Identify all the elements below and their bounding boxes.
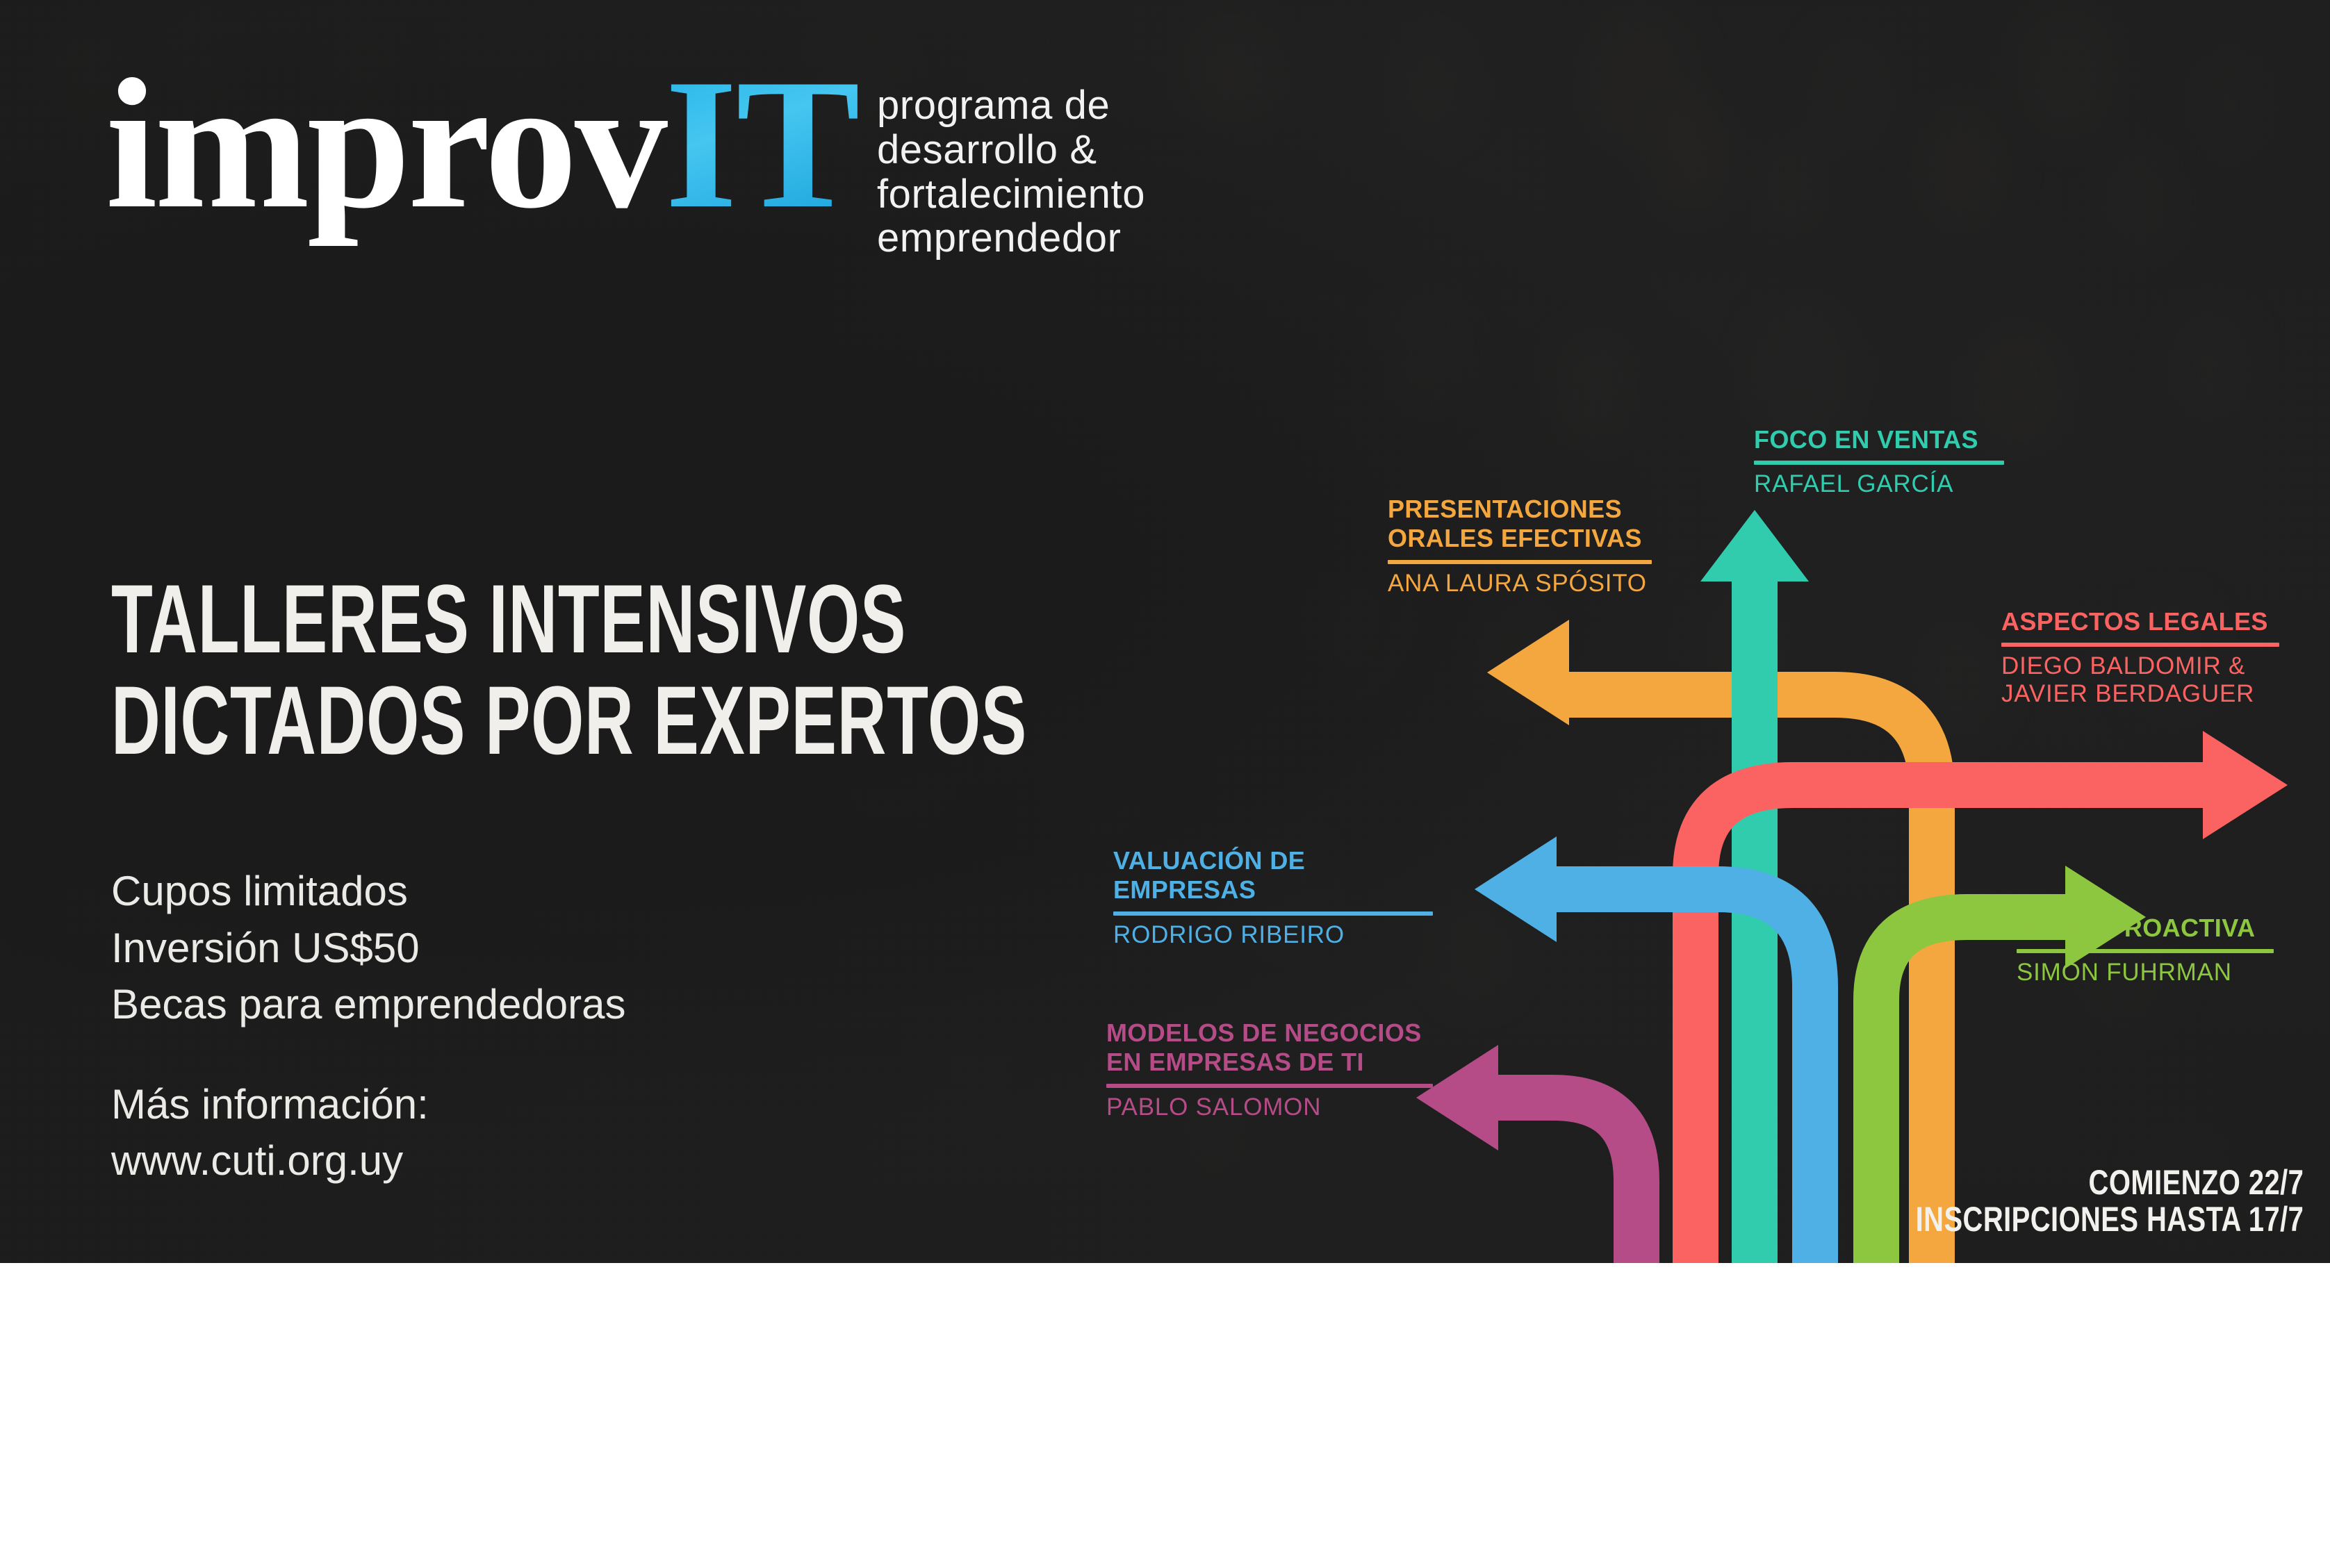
- workshop-arrow-diagram: [1459, 486, 2330, 1263]
- footer-section: ORGANIZA cuti: [0, 1263, 2330, 1568]
- workshop-speaker-aspectos-1: DIEGO BALDOMIR &: [2001, 652, 2279, 680]
- workshop-label-foco-en-ventas: FOCO EN VENTAS RAFAEL GARCÍA: [1754, 425, 2004, 498]
- workshop-rule-foco: [1754, 461, 2004, 465]
- body-line-mas-info: Más información:: [111, 1076, 625, 1133]
- tagline-line-3: fortalecimiento: [877, 172, 1145, 217]
- workshop-speaker-aspectos-2: JAVIER BERDAGUER: [2001, 680, 2279, 708]
- headline-line-2: DICTADOS POR EXPERTOS: [111, 670, 1027, 771]
- dates-block: COMIENZO 22/7 INSCRIPCIONES HASTA 17/7: [1915, 1164, 2304, 1238]
- workshop-title-presentaciones-1: PRESENTACIONES: [1388, 495, 1652, 524]
- page-title: TALLERES INTENSIVOS DICTADOS POR EXPERTO…: [111, 568, 1027, 770]
- workshop-rule-modelos: [1106, 1084, 1433, 1088]
- tagline-line-1: programa de: [877, 83, 1145, 128]
- workshop-rule-valuacion: [1113, 911, 1433, 916]
- date-start: COMIENZO 22/7: [1915, 1164, 2304, 1201]
- tagline-line-4: emprendedor: [877, 216, 1145, 261]
- workshop-rule-venta: [2017, 949, 2274, 953]
- headline-line-1: TALLERES INTENSIVOS: [111, 568, 1027, 670]
- arrow-diagram-svg: [1459, 486, 2330, 1263]
- workshop-speaker-presentaciones: ANA LAURA SPÓSITO: [1388, 570, 1652, 597]
- workshop-label-presentaciones: PRESENTACIONES ORALES EFECTIVAS ANA LAUR…: [1388, 495, 1652, 597]
- workshop-rule-aspectos: [2001, 643, 2279, 647]
- workshop-title-presentaciones-2: ORALES EFECTIVAS: [1388, 524, 1652, 553]
- workshop-speaker-foco: RAFAEL GARCÍA: [1754, 470, 2004, 498]
- workshop-rule-presentaciones: [1388, 560, 1652, 564]
- workshop-label-aspectos-legales: ASPECTOS LEGALES DIEGO BALDOMIR & JAVIER…: [2001, 607, 2279, 708]
- logo-word-it: IT: [665, 64, 859, 224]
- workshop-speaker-modelos: PABLO SALOMON: [1106, 1094, 1433, 1121]
- workshop-title-valuacion: VALUACIÓN DE EMPRESAS: [1113, 846, 1433, 905]
- date-deadline: INSCRIPCIONES HASTA 17/7: [1915, 1201, 2304, 1238]
- brand-tagline: programa de desarrollo & fortalecimiento…: [877, 83, 1145, 261]
- workshop-title-modelos-1: MODELOS DE NEGOCIOS: [1106, 1018, 1433, 1048]
- workshop-speaker-venta: SIMÓN FUHRMAN: [2017, 959, 2274, 987]
- workshop-title-foco: FOCO EN VENTAS: [1754, 425, 2004, 454]
- workshop-title-venta: VENTA PROACTIVA: [2017, 914, 2274, 943]
- logo-word-improv: improv: [106, 64, 665, 224]
- body-spacer: [111, 1033, 625, 1076]
- workshop-label-venta-proactiva: VENTA PROACTIVA SIMÓN FUHRMAN: [2017, 914, 2274, 987]
- body-copy: Cupos limitados Inversión US$50 Becas pa…: [111, 863, 625, 1189]
- poster-root: improv IT programa de desarrollo & forta…: [0, 0, 2330, 1568]
- workshop-title-modelos-2: EN EMPRESAS DE TI: [1106, 1048, 1433, 1077]
- workshop-label-modelos-negocios: MODELOS DE NEGOCIOS EN EMPRESAS DE TI PA…: [1106, 1018, 1433, 1121]
- body-line-becas: Becas para emprendedoras: [111, 976, 625, 1033]
- hero-section: improv IT programa de desarrollo & forta…: [0, 0, 2330, 1263]
- body-line-cupos: Cupos limitados: [111, 863, 625, 920]
- workshop-label-valuacion: VALUACIÓN DE EMPRESAS RODRIGO RIBEIRO: [1113, 846, 1433, 949]
- body-line-inversion: Inversión US$50: [111, 920, 625, 977]
- workshop-title-aspectos: ASPECTOS LEGALES: [2001, 607, 2279, 636]
- workshop-speaker-valuacion: RODRIGO RIBEIRO: [1113, 921, 1433, 949]
- website-link[interactable]: www.cuti.org.uy: [111, 1132, 625, 1189]
- tagline-line-2: desarrollo &: [877, 128, 1145, 172]
- brand-logo: improv IT programa de desarrollo & forta…: [106, 64, 1145, 261]
